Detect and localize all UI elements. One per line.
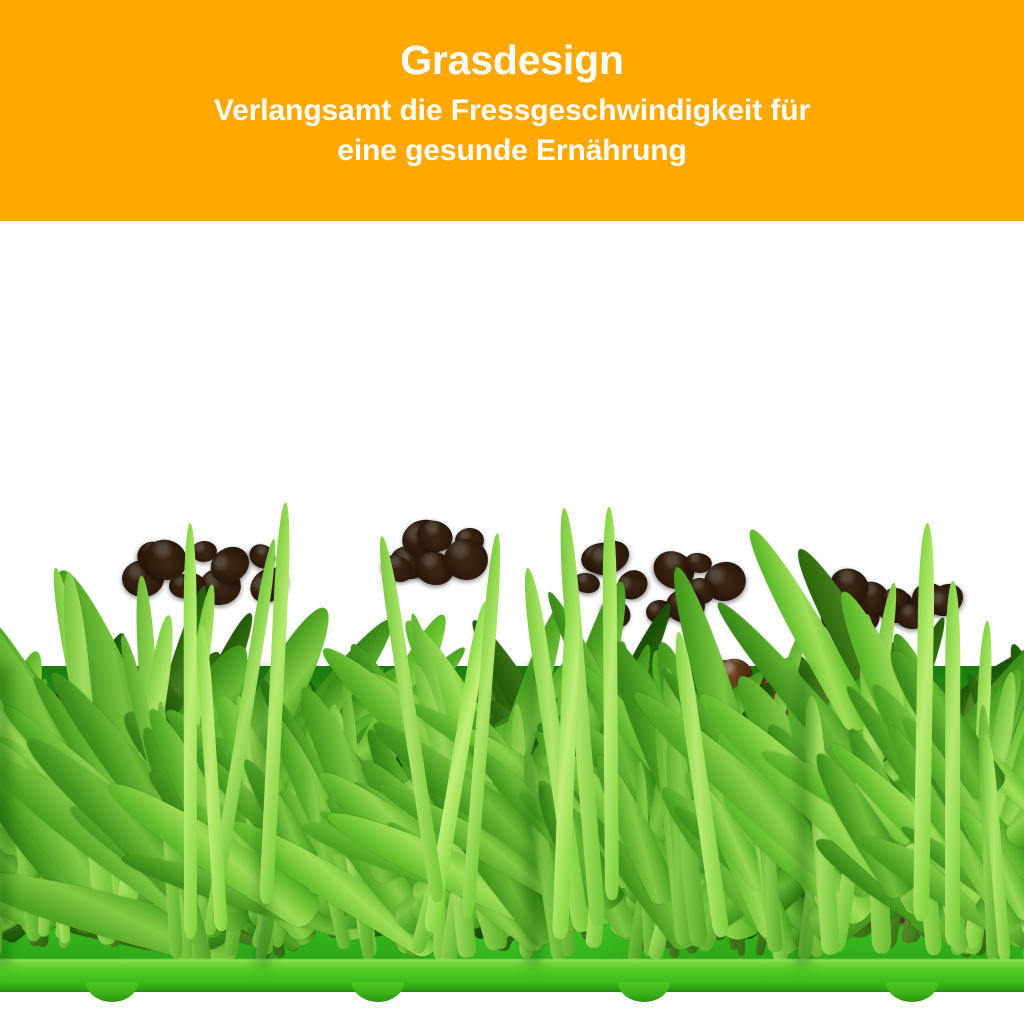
banner-subtitle-line-2: eine gesunde Ernährung — [337, 131, 687, 171]
grass-clump-tall — [209, 934, 210, 935]
grass-clump — [276, 956, 277, 957]
grass-clump — [52, 945, 53, 946]
grass-clump — [582, 957, 583, 958]
grass-clump-tall — [952, 945, 953, 946]
grass-layer — [0, 221, 1024, 1024]
grass-clump-tall — [190, 938, 191, 939]
headline-banner: Grasdesign Verlangsamt die Fressgeschwin… — [0, 0, 1024, 221]
grass-clump — [498, 952, 499, 953]
grass-clump — [131, 948, 132, 949]
grass-stem-icon — [184, 523, 198, 939]
mat-seam — [0, 666, 16, 966]
grass-clump-tall — [597, 925, 598, 926]
grass-clump-tall — [921, 921, 922, 922]
mat-base-rim — [0, 964, 1024, 992]
grass-clump — [861, 947, 862, 948]
grass-clump-tall — [581, 931, 582, 932]
grass-clump-tall — [559, 938, 560, 939]
product-marketing-image: Grasdesign Verlangsamt die Fressgeschwin… — [0, 0, 1024, 1024]
grass-stem-icon — [945, 581, 960, 946]
grass-clump-tall — [430, 931, 431, 932]
banner-subtitle-line-1: Verlangsamt die Fressgeschwindigkeit für — [214, 91, 810, 131]
grass-clump — [715, 950, 716, 951]
grass-stem-icon — [603, 507, 620, 900]
grass-clump — [946, 953, 947, 954]
grass-clump-tall — [467, 917, 468, 918]
grass-clump-tall — [721, 936, 722, 937]
grass-clump-tall — [221, 929, 222, 930]
mat-seam — [790, 666, 816, 966]
banner-title: Grasdesign — [400, 40, 624, 81]
grass-clump — [349, 955, 350, 956]
product-photo — [0, 221, 1024, 1024]
grass-clump-tall — [612, 900, 613, 901]
